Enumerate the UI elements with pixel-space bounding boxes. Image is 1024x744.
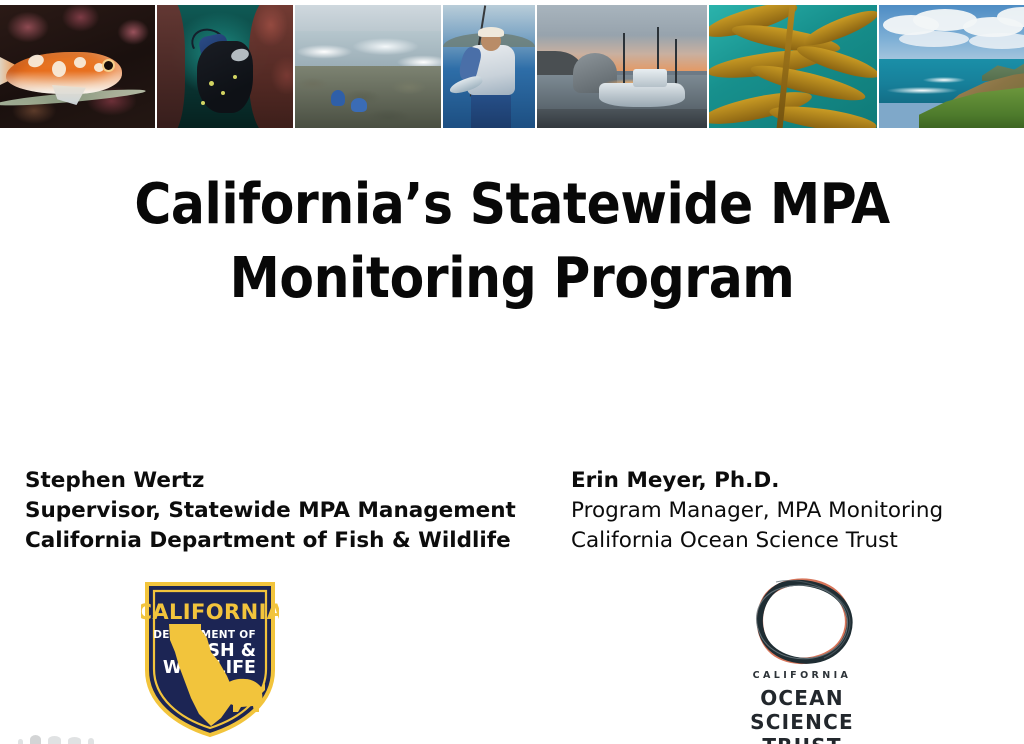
researcher-figure [351,98,367,112]
fish-blotch [74,57,86,68]
presenter-stephen-wertz: Stephen Wertz Supervisor, Statewide MPA … [25,466,516,556]
photo-orange-rockfish-on-reef [0,5,155,128]
photo-recreational-angler [443,5,535,128]
ost-line-science: SCIENCE [722,710,882,734]
ost-line-california: CALIFORNIA [722,670,882,681]
footer-glyph [30,735,41,744]
boat-mast [675,39,677,85]
boat-cabin [633,69,667,87]
photo-big-sur-coastline [879,5,1024,128]
presentation-slide: California’s Statewide MPA Monitoring Pr… [0,0,1024,744]
ost-wordmark: CALIFORNIA OCEAN SCIENCE TRUST [722,670,882,744]
fish-blotch [52,61,66,77]
cdfw-logo: CALIFORNIA DEPARTMENT OF FISH & WILDLIFE [141,578,279,738]
presenter-organization: California Ocean Science Trust [571,526,943,556]
footer-glyph [18,739,23,744]
slide-title-line-2: Monitoring Program [0,242,1024,316]
photo-giant-kelp-canopy [709,5,877,128]
photo-fishing-harbor-at-dusk [537,5,707,128]
presenter-role: Supervisor, Statewide MPA Management [25,496,516,526]
presenter-name: Stephen Wertz [25,466,516,496]
wave-foam [923,77,965,83]
fish-eye [104,61,113,70]
gear-highlight [233,75,237,79]
fish-blotch [94,63,104,72]
footer-glyph [88,738,94,744]
ost-line-ocean: OCEAN [722,686,882,710]
photo-rocky-intertidal-surf [295,5,441,128]
ring-center [771,592,833,648]
researcher-figure [331,90,345,106]
cdfw-line-1: CALIFORNIA [141,600,279,624]
angler-legs [471,91,511,128]
wave-foam [887,87,957,94]
gear-highlight [201,101,205,105]
gear-highlight [209,81,214,86]
angler-cap [478,27,504,37]
slide-title: California’s Statewide MPA Monitoring Pr… [0,168,1024,316]
ocean-science-trust-logo: CALIFORNIA OCEAN SCIENCE TRUST [722,574,882,744]
ost-ring-mark-icon [736,574,868,670]
presenter-block: Stephen Wertz Supervisor, Statewide MPA … [0,466,1024,566]
presenter-erin-meyer: Erin Meyer, Ph.D. Program Manager, MPA M… [571,466,943,556]
boat-mast [657,27,659,71]
ost-line-trust: TRUST [722,734,882,744]
boat-mast [623,33,625,85]
footer-glyph [68,737,81,744]
slide-title-line-1: California’s Statewide MPA [0,168,1024,242]
footer-glyph [48,736,61,744]
footer-logo-row-cutoff [18,730,113,744]
red-algae-right [249,5,293,128]
presenter-name: Erin Meyer, Ph.D. [571,466,943,496]
harbor-dock [537,109,707,128]
red-algae-left [157,5,185,128]
cloud [899,31,969,47]
photo-banner [0,5,1024,128]
presenter-role: Program Manager, MPA Monitoring [571,496,943,526]
presenter-organization: California Department of Fish & Wildlife [25,526,516,556]
gear-highlight [221,91,225,95]
intertidal-rocks [295,66,441,128]
photo-scuba-diver-surveying [157,5,293,128]
